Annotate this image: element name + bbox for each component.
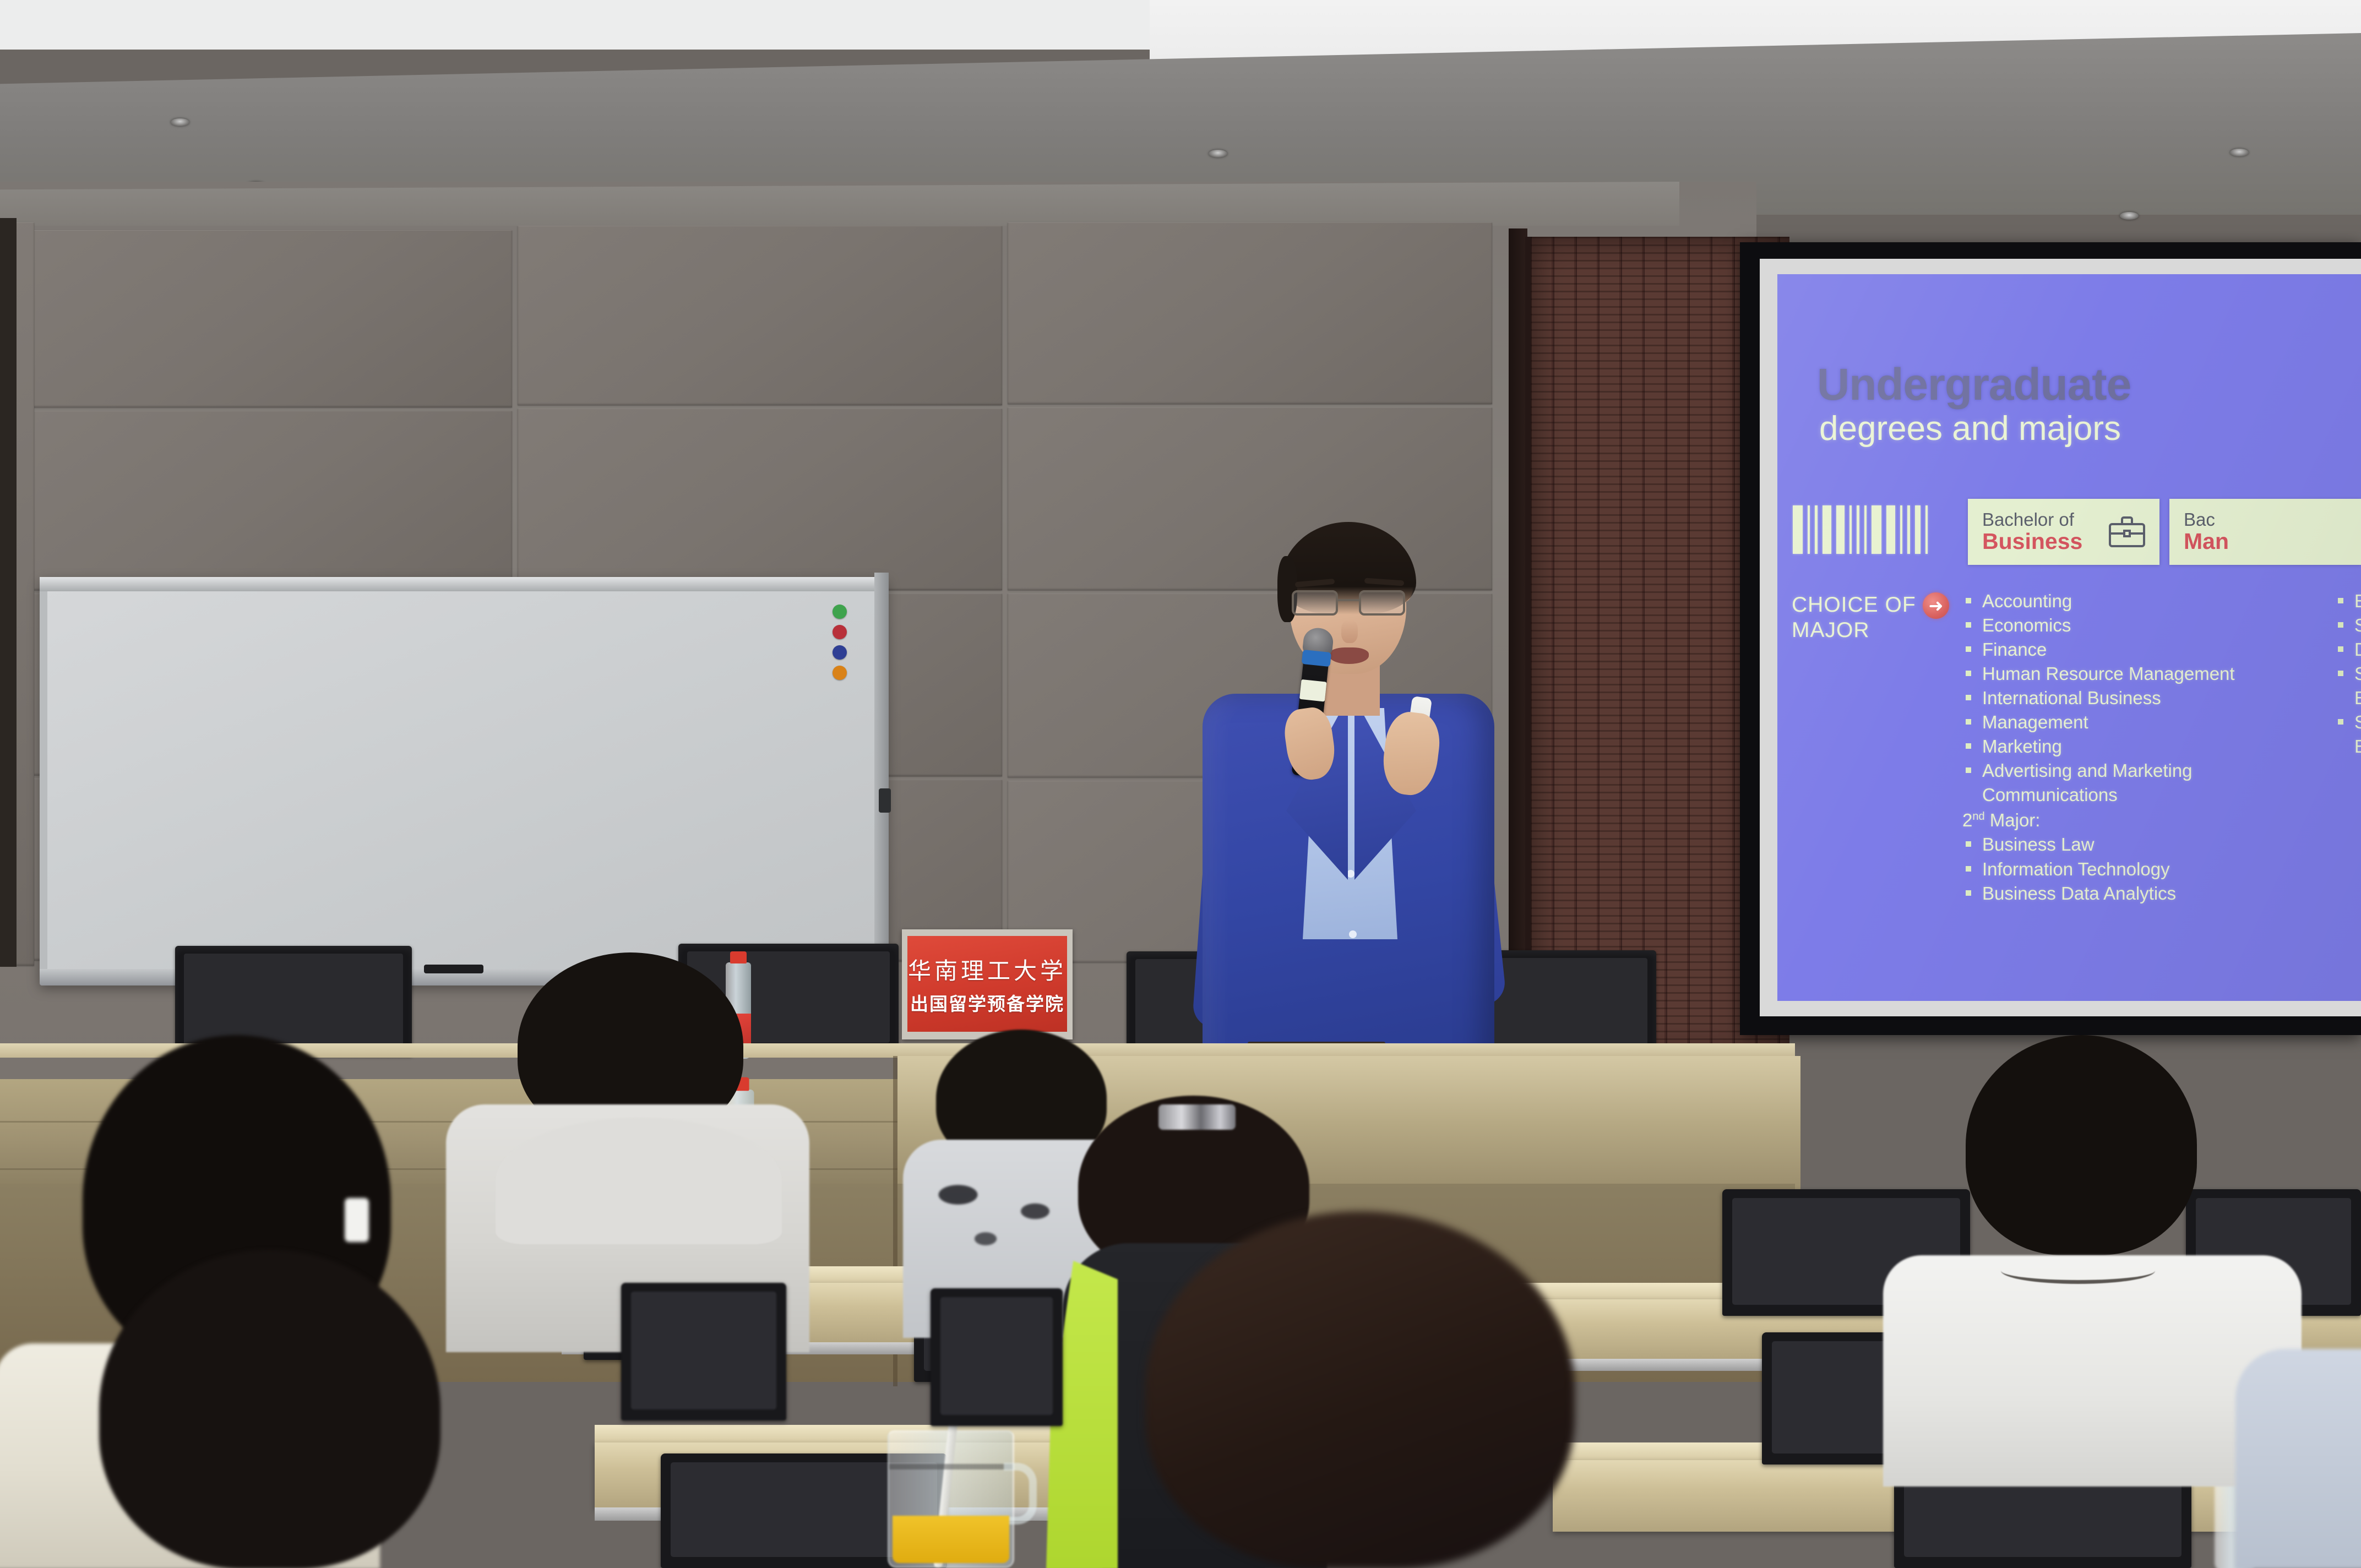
- presenter-mouth: [1329, 647, 1369, 664]
- degree-card-business[interactable]: Bachelor of Business: [1968, 499, 2159, 565]
- second-major-heading: 2nd Major:: [1962, 808, 2326, 832]
- audience-member-foreground: [1145, 1211, 1575, 1568]
- drink-jar[interactable]: [888, 1430, 1014, 1568]
- wall-left-dark-edge: [0, 218, 17, 967]
- list-item: Advertising and Marketing Communications: [1962, 759, 2304, 807]
- choice-of-major-line2: MAJOR: [1792, 618, 1916, 643]
- list-item: Information Technology: [1962, 857, 2326, 881]
- slat-panel-left-edge: [1509, 228, 1527, 1065]
- hoodie-hood: [496, 1118, 782, 1244]
- whiteboard-magnet-blue[interactable]: [833, 645, 847, 660]
- shirt-button: [1347, 870, 1354, 878]
- briefcase-icon: [2109, 516, 2145, 547]
- venue-sign-line1: 华南理工大学: [908, 952, 1067, 986]
- hair: [1145, 1211, 1575, 1568]
- degree-card-management[interactable]: Bac Man: [2169, 499, 2361, 565]
- venue-sign-line2: 出国留学预备学院: [910, 989, 1064, 1016]
- list-item: International Business: [1962, 686, 2326, 710]
- list-item: Accounting: [1962, 589, 2326, 613]
- barcode-decoration: [1793, 505, 1952, 554]
- list-item: Stra: [2335, 710, 2361, 734]
- wall-pad: [1008, 222, 1492, 404]
- audience-member-foreground: [2235, 1349, 2361, 1568]
- major-list-primary: Accounting Economics Finance Human Resou…: [1962, 589, 2326, 906]
- whiteboard-magnet-red[interactable]: [833, 625, 847, 639]
- whiteboard-magnet-orange[interactable]: [833, 666, 847, 680]
- necklace: [2001, 1257, 2155, 1284]
- ceiling-downlight: [2230, 149, 2249, 156]
- slide-title: Undergraduate: [1817, 359, 2131, 411]
- whiteboard-hinge: [879, 788, 891, 813]
- whiteboard-magnet-green[interactable]: [833, 605, 847, 619]
- hair-clip: [1158, 1104, 1236, 1130]
- wall-pad: [518, 409, 1002, 590]
- audience-chair[interactable]: [621, 1283, 786, 1420]
- presentation-slide: Undergraduate degrees and majors Bachelo…: [1777, 274, 2361, 1001]
- list-item: Human Resource Management: [1962, 662, 2326, 686]
- list-item: Management: [1962, 710, 2326, 734]
- degree-card-line2: Business: [1982, 530, 2082, 553]
- venue-name-sign: 华南理工大学 出国留学预备学院: [902, 929, 1073, 1039]
- whiteboard-frame-top: [40, 577, 888, 591]
- list-item: Business Law: [1962, 832, 2326, 857]
- audience-member-foreground: [99, 1250, 440, 1568]
- audience-chair[interactable]: [931, 1288, 1063, 1426]
- presenter-nose: [1341, 620, 1358, 643]
- slide-subtitle: degrees and majors: [1819, 409, 2121, 448]
- list-item: Eve: [2335, 589, 2361, 613]
- ceiling-downlight: [2120, 212, 2139, 220]
- wall-pad: [33, 411, 512, 590]
- lecture-hall-photo: Undergraduate degrees and majors Bachelo…: [0, 0, 2361, 1568]
- list-item-continuation: Ent: [2335, 734, 2361, 759]
- ceiling-downlight: [171, 118, 189, 126]
- degree-card-row: Bachelor of Business Bac Man: [1968, 499, 2361, 565]
- wall-pad: [518, 226, 1002, 405]
- list-item: Marketing: [1962, 734, 2326, 759]
- glasses-icon: [1292, 590, 1405, 616]
- light-blue-top: [2235, 1349, 2361, 1568]
- wall-pad: [33, 230, 512, 407]
- earphone: [345, 1198, 369, 1242]
- list-item-continuation: Ent: [2335, 686, 2361, 710]
- hair: [99, 1250, 440, 1568]
- whiteboard-surface[interactable]: [47, 585, 880, 977]
- choice-of-major-line1: CHOICE OF: [1792, 592, 1916, 618]
- list-item: Finance: [1962, 638, 2326, 662]
- list-item: Dig: [2335, 638, 2361, 662]
- second-major-heading-text: 2nd Major:: [1962, 810, 2040, 830]
- whiteboard-right-post: [874, 573, 889, 991]
- major-list-secondary-truncated: Eve Spo Dig Sus Ent Stra Ent: [2335, 589, 2361, 759]
- jar-contents: [893, 1516, 1009, 1563]
- list-item: Sus: [2335, 662, 2361, 686]
- choice-of-major-label: CHOICE OF MAJOR: [1792, 592, 1916, 643]
- list-item: Business Data Analytics: [1962, 881, 2326, 906]
- arrow-right-icon: ➜: [1923, 592, 1949, 619]
- degree-card-line1: Bachelor of: [1982, 510, 2082, 530]
- degree-card-line2: Man: [2184, 530, 2229, 553]
- list-item: Economics: [1962, 613, 2326, 638]
- shirt-button: [1349, 930, 1357, 938]
- list-item: Spo: [2335, 613, 2361, 638]
- degree-card-line1: Bac: [2184, 510, 2229, 530]
- hair: [1966, 1035, 2197, 1255]
- ceiling-downlight: [1209, 150, 1227, 157]
